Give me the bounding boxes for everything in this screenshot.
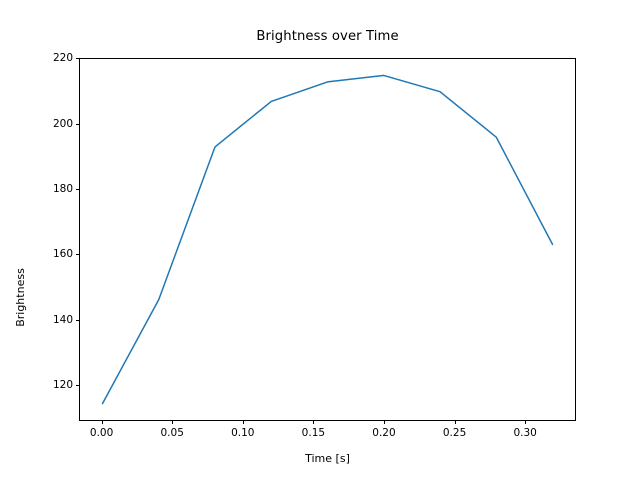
- y-axis-tick-label: 140: [53, 314, 73, 326]
- y-axis-tick-label: 160: [53, 248, 73, 260]
- y-axis-tick-label: 120: [53, 379, 73, 391]
- chart-title: Brightness over Time: [79, 29, 576, 44]
- x-axis-tick-label: 0.05: [160, 427, 183, 439]
- x-axis-tick-mark: [172, 421, 173, 425]
- x-axis-tick-label: 0.10: [231, 427, 254, 439]
- x-axis-tick-label: 0.15: [302, 427, 325, 439]
- x-axis-tick-mark: [313, 421, 314, 425]
- x-axis-tick-labels: 0.000.050.100.150.200.250.30: [79, 427, 576, 443]
- x-axis-tick-label: 0.20: [372, 427, 395, 439]
- y-axis-tick-labels: 120140160180200220: [29, 58, 73, 421]
- x-axis-tick-label: 0.30: [513, 427, 536, 439]
- y-axis-tick-label: 220: [53, 52, 73, 64]
- x-axis-tick-mark: [384, 421, 385, 425]
- x-axis-tick-label: 0.25: [443, 427, 466, 439]
- x-axis-tick-label: 0.00: [90, 427, 113, 439]
- y-axis-label: Brightness: [14, 116, 28, 479]
- x-axis-label: Time [s]: [79, 452, 576, 465]
- y-axis-label-container: Brightness: [14, 58, 28, 421]
- x-axis-tick-mark: [102, 421, 103, 425]
- chart-figure: Brightness over Time Brightness 12014016…: [0, 0, 640, 480]
- plot-line-area: [80, 59, 575, 420]
- y-axis-tick-label: 180: [53, 183, 73, 195]
- x-axis-tick-marks: [79, 421, 576, 425]
- x-axis-tick-mark: [455, 421, 456, 425]
- y-axis-tick-label: 200: [53, 118, 73, 130]
- plot-axes: [79, 58, 576, 421]
- brightness-line-series: [102, 75, 552, 403]
- x-axis-tick-mark: [243, 421, 244, 425]
- x-axis-tick-mark: [525, 421, 526, 425]
